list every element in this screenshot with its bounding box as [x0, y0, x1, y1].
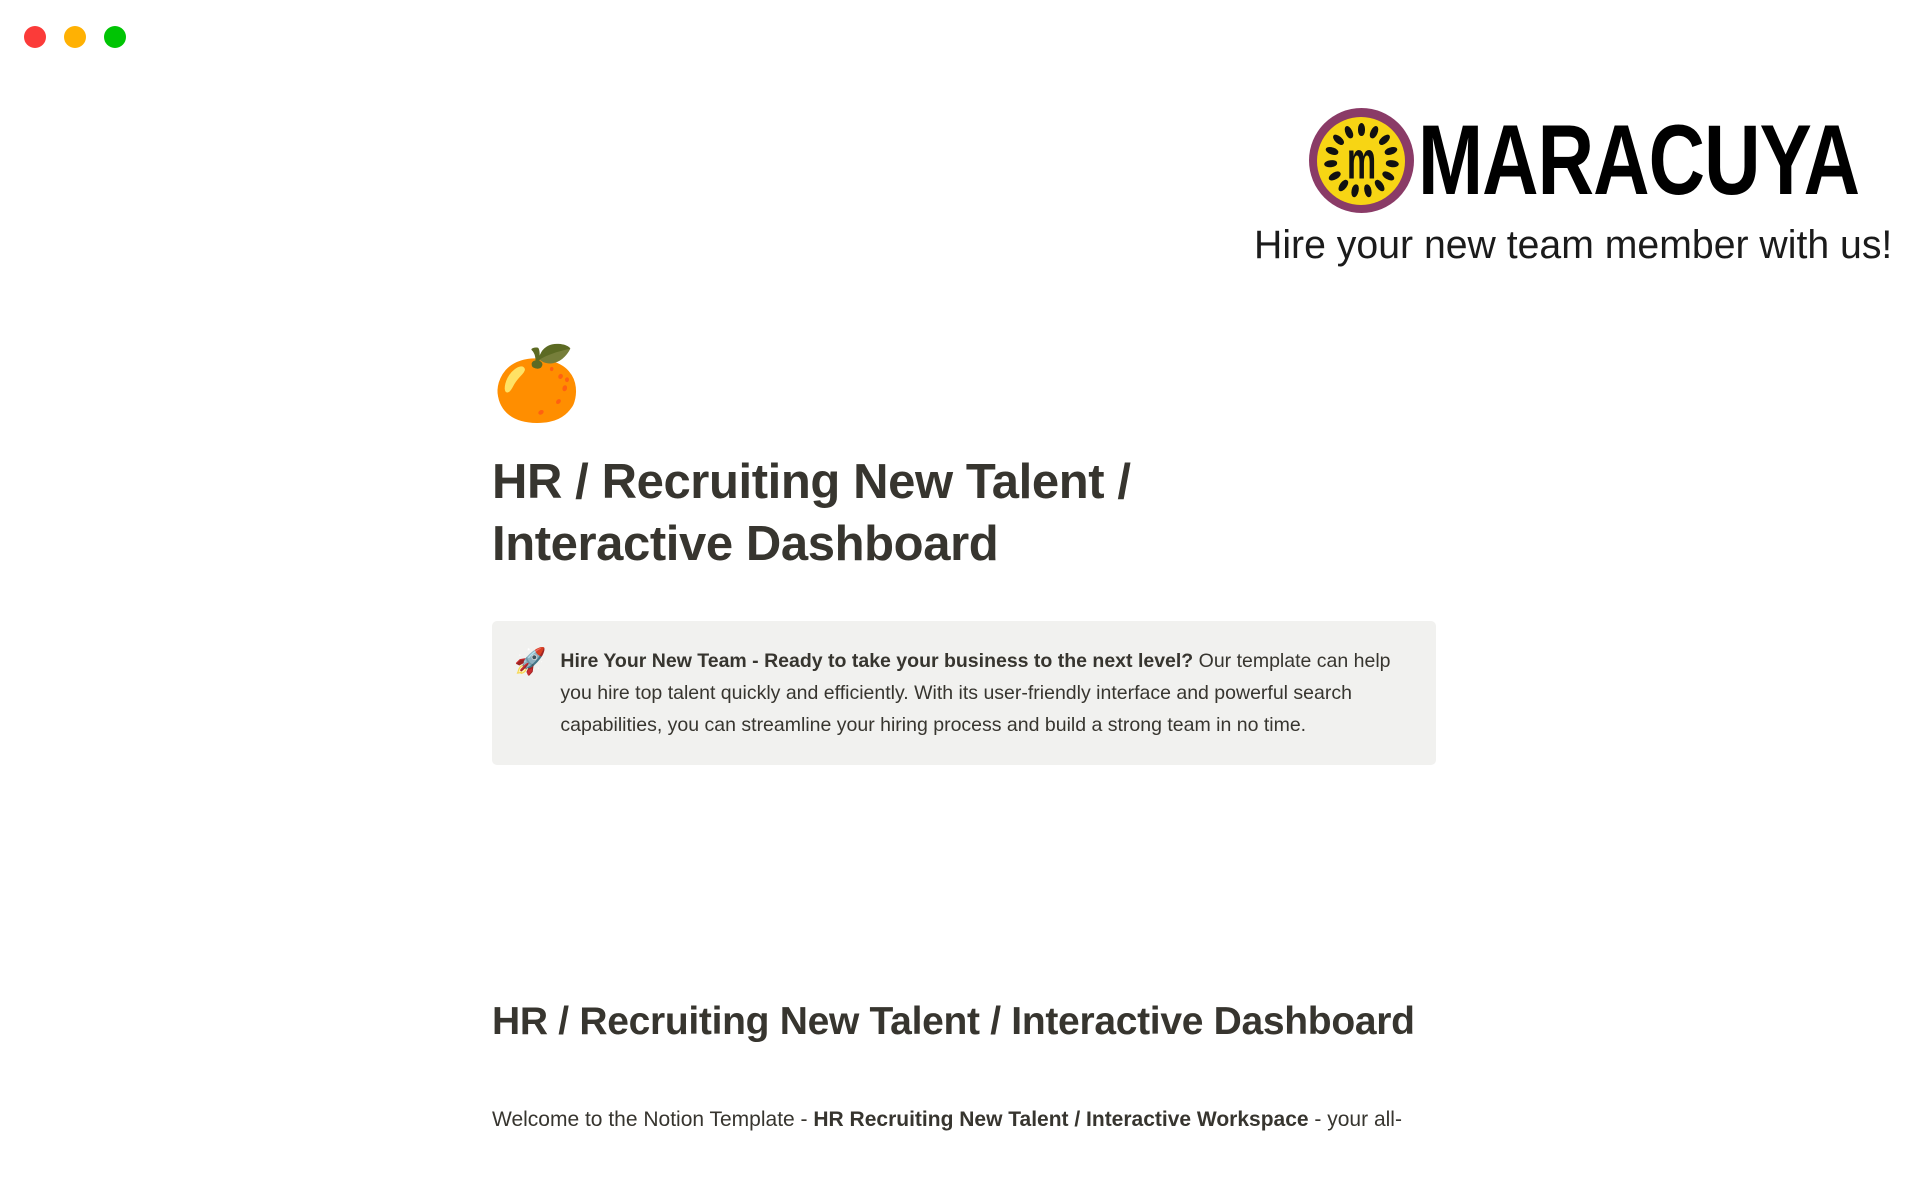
brand-logo-row: m MARACUYA — [1309, 108, 1892, 213]
close-window-button[interactable] — [24, 26, 46, 48]
maracuya-passionfruit-logo-icon: m — [1309, 108, 1414, 213]
rocket-emoji-icon: 🚀 — [514, 645, 546, 677]
welcome-paragraph-before: Welcome to the Notion Template - — [492, 1108, 813, 1131]
brand-wordmark: MARACUYA — [1418, 117, 1859, 204]
section-heading: HR / Recruiting New Talent / Interactive… — [492, 997, 1436, 1048]
app-window: m MARACUYA Hire your new team member wit… — [0, 0, 1920, 1200]
intro-callout-text: Hire Your New Team - Ready to take your … — [560, 645, 1414, 741]
logo-fruit-inner: m — [1317, 117, 1405, 205]
brand-tagline: Hire your new team member with us! — [1254, 223, 1892, 267]
document-content: 🍊 HR / Recruiting New Talent / Interacti… — [492, 348, 1436, 1136]
minimize-window-button[interactable] — [64, 26, 86, 48]
window-titlebar — [0, 0, 1920, 72]
welcome-paragraph-after: - your all- — [1309, 1108, 1402, 1131]
logo-letter-m: m — [1347, 134, 1375, 187]
intro-callout: 🚀 Hire Your New Team - Ready to take you… — [492, 621, 1436, 765]
window-traffic-lights — [24, 26, 126, 48]
welcome-paragraph: Welcome to the Notion Template - HR Recr… — [492, 1104, 1436, 1136]
tangerine-emoji-icon: 🍊 — [492, 348, 1436, 432]
maximize-window-button[interactable] — [104, 26, 126, 48]
page-title: HR / Recruiting New Talent / Interactive… — [492, 452, 1212, 575]
brand-header: m MARACUYA Hire your new team member wit… — [1241, 108, 1892, 267]
welcome-paragraph-bold: HR Recruiting New Talent / Interactive W… — [813, 1108, 1308, 1131]
intro-callout-lead: Hire Your New Team - Ready to take your … — [560, 650, 1193, 672]
